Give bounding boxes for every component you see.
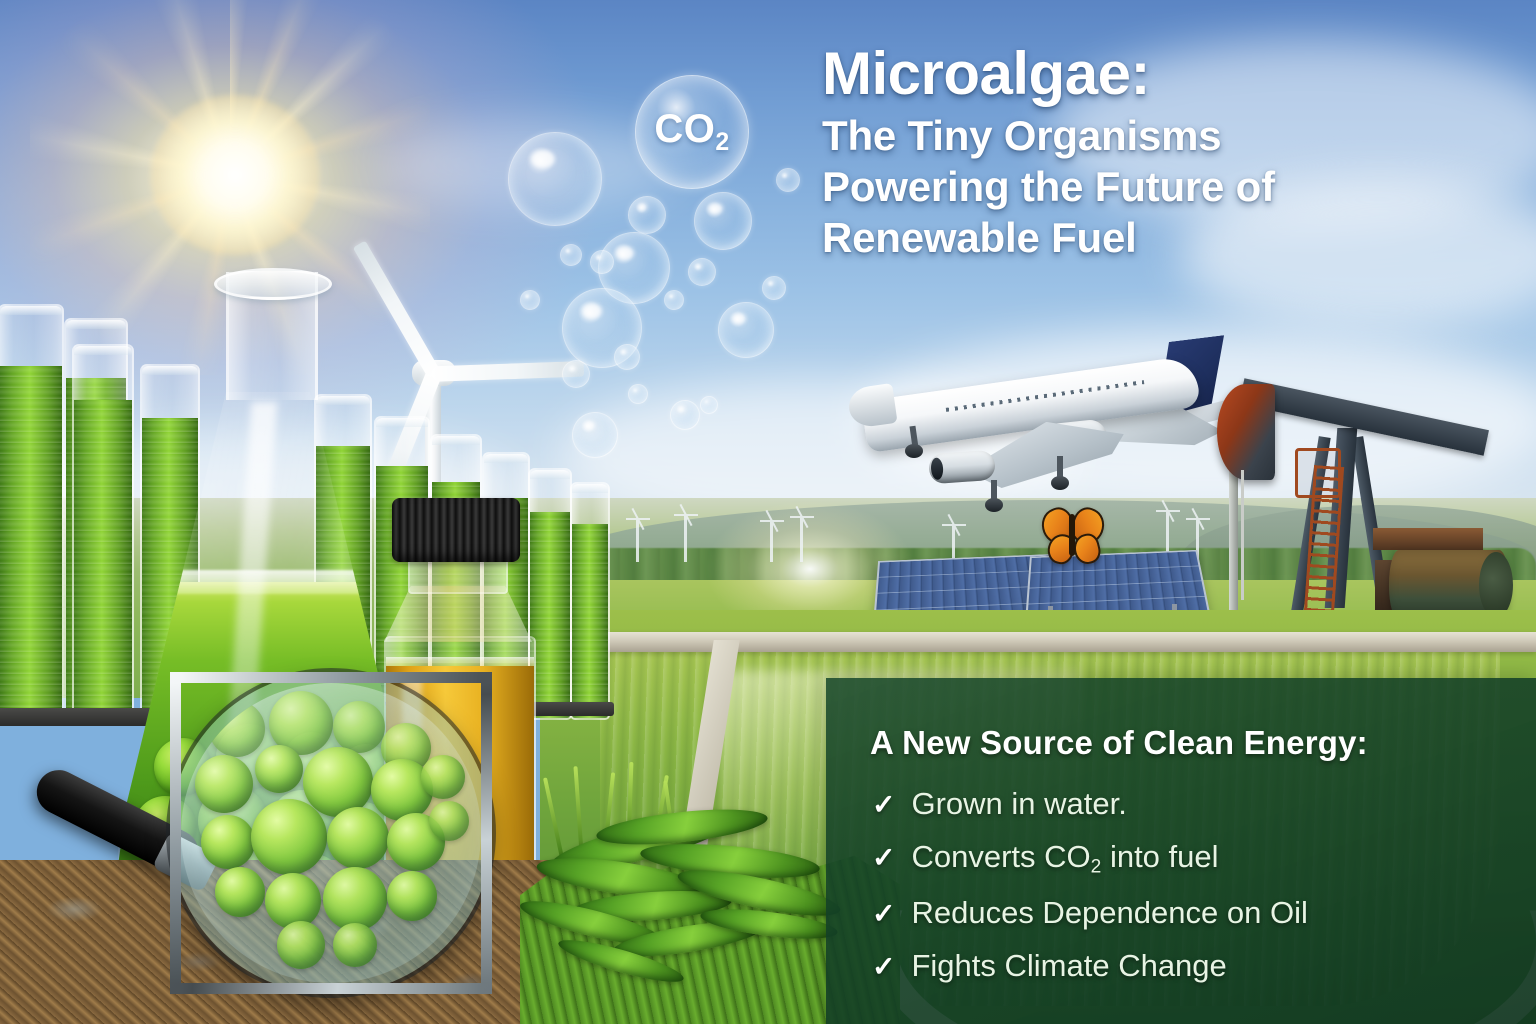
soap-bubble-icon [560, 244, 582, 266]
title-line-4: Renewable Fuel [822, 212, 1462, 263]
sun-icon [150, 95, 320, 255]
soap-bubble-icon [508, 132, 602, 226]
airplane-nose [846, 383, 897, 429]
soap-bubble-icon [670, 400, 700, 430]
far-wind-turbine-icon [770, 522, 773, 562]
butterfly-body [1069, 514, 1075, 556]
check-icon: ✓ [872, 900, 895, 928]
list-item: ✓ Fights Climate Change [872, 950, 1536, 983]
flag-pole [1229, 462, 1238, 632]
far-wind-turbine-icon [636, 520, 639, 562]
list-item-label: Grown in water. [911, 788, 1126, 821]
bottle-cap-icon [392, 498, 520, 562]
co2-label: CO2 [654, 109, 729, 156]
test-tube-rim [0, 306, 62, 315]
landing-gear-wheel [985, 498, 1003, 512]
panel-grid-line [1030, 580, 1202, 588]
landing-gear-wheel [1051, 476, 1069, 490]
soap-bubble-icon [700, 396, 718, 414]
test-tube [570, 482, 610, 720]
soap-bubble-icon [688, 258, 716, 286]
pumpjack-counterweight [1373, 528, 1483, 550]
list-item: ✓ Reduces Dependence on Oil [872, 897, 1536, 930]
list-item-label: Converts CO2 into fuel [911, 841, 1218, 878]
soap-bubble-icon [664, 290, 684, 310]
soap-bubble-icon [628, 196, 666, 234]
magnifier-lens [170, 672, 492, 994]
panel-grid-line [1028, 596, 1204, 605]
poster-title-block: Microalgae: The Tiny Organisms Powering … [822, 44, 1462, 264]
far-wind-turbine-icon [800, 518, 803, 562]
title-line-2: The Tiny Organisms [822, 110, 1462, 161]
far-wind-turbine-icon [684, 516, 687, 562]
pond-wall [540, 632, 1536, 652]
soap-bubble-icon [762, 276, 786, 300]
landing-gear-wheel [905, 444, 923, 458]
list-item: ✓ Grown in water. [872, 788, 1536, 821]
test-tube-rim [572, 484, 608, 493]
test-tube [0, 304, 64, 720]
list-item-label: Reduces Dependence on Oil [911, 897, 1307, 930]
title-line-3: Powering the Future of [822, 161, 1462, 212]
algae-culture-fluid [572, 524, 608, 718]
panel-grid-line [1031, 566, 1199, 574]
bottle-shoulder [384, 586, 532, 642]
airplane-icon [845, 330, 1245, 510]
magnifying-glass-icon [170, 672, 470, 972]
soap-bubble-icon [590, 250, 614, 274]
soap-bubble-icon [694, 192, 752, 250]
benefits-list: ✓ Grown in water. ✓ Converts CO2 into fu… [826, 788, 1536, 982]
check-icon: ✓ [872, 791, 895, 819]
clean-energy-info-panel: A New Source of Clean Energy: ✓ Grown in… [826, 678, 1536, 1024]
oil-surface-line [386, 657, 534, 666]
infographic-poster: CO2 Microalgae: The Tiny Organisms Power… [0, 0, 1536, 1024]
flask-lip [214, 268, 332, 300]
co2-bubble-icon: CO2 [635, 75, 749, 189]
pumpjack-bridle-cable [1241, 470, 1244, 600]
soap-bubble-icon [776, 168, 800, 192]
check-icon: ✓ [872, 844, 895, 872]
pumpjack-horse-head [1217, 384, 1275, 480]
check-icon: ✓ [872, 953, 895, 981]
panel-heading: A New Source of Clean Energy: [870, 724, 1536, 762]
list-item-label: Fights Climate Change [911, 950, 1226, 983]
airplane-engine [928, 450, 996, 485]
list-item: ✓ Converts CO2 into fuel [872, 841, 1536, 878]
butterfly-icon [1040, 508, 1104, 566]
test-tube-rim [530, 470, 570, 479]
magnifier-glass-haze [181, 683, 481, 983]
soap-bubble-icon [718, 302, 774, 358]
far-wind-turbine-icon [952, 526, 955, 560]
test-tube-rim [66, 320, 126, 329]
flask-foam-line [140, 570, 398, 594]
test-tube-rim [432, 436, 480, 445]
algae-culture-fluid [0, 366, 62, 718]
test-tube-rim [484, 454, 528, 463]
title-line-1: Microalgae: [822, 44, 1462, 104]
